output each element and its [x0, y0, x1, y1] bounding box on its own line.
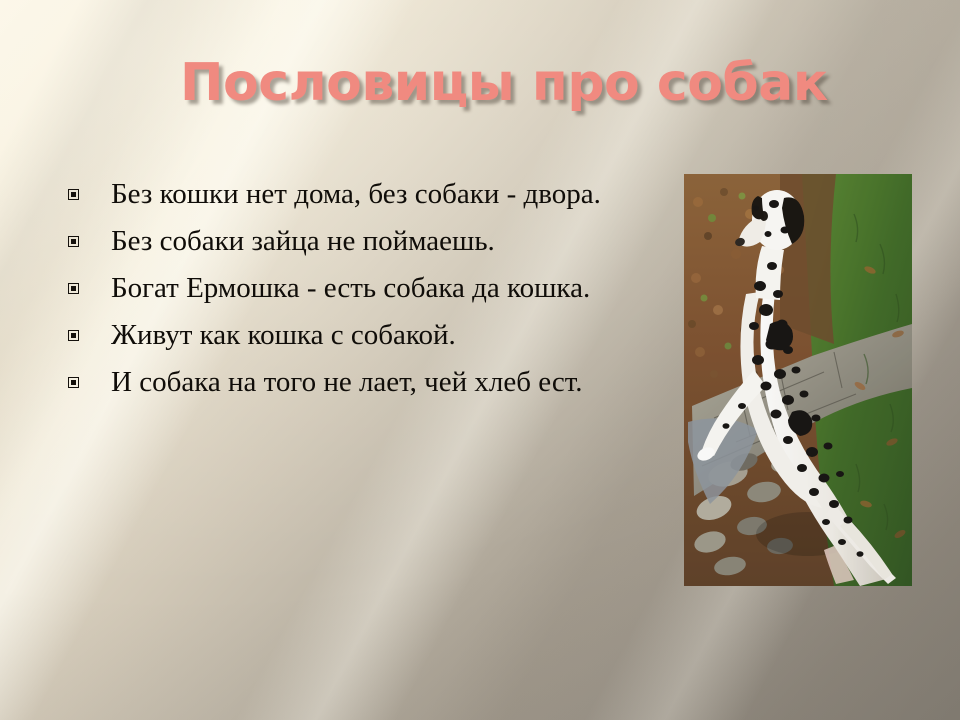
list-item-label: И собака на того не лает, чей хлеб ест. — [111, 364, 582, 401]
list-item-label: Без собаки зайца не поймаешь. — [111, 223, 495, 260]
list-item-label: Без кошки нет дома, без собаки - двора. — [111, 176, 601, 213]
presentation-slide: Пословицы про собак Без кошки нет дома, … — [0, 0, 960, 720]
list-item-label: Живут как кошка с собакой. — [111, 317, 456, 354]
square-bullet-icon — [68, 377, 79, 388]
square-bullet-icon — [68, 189, 79, 200]
list-item: Без кошки нет дома, без собаки - двора. — [68, 176, 668, 213]
list-item: Богат Ермошка - есть собака да кошка. — [68, 270, 668, 307]
proverbs-list: Без кошки нет дома, без собаки - двора. … — [68, 176, 668, 411]
slide-title: Пословицы про собак — [180, 50, 800, 116]
list-item: Без собаки зайца не поймаешь. — [68, 223, 668, 260]
square-bullet-icon — [68, 283, 79, 294]
square-bullet-icon — [68, 330, 79, 341]
list-item: И собака на того не лает, чей хлеб ест. — [68, 364, 668, 401]
dalmatian-dog-photo — [684, 174, 912, 586]
list-item: Живут как кошка с собакой. — [68, 317, 668, 354]
list-item-label: Богат Ермошка - есть собака да кошка. — [111, 270, 590, 307]
square-bullet-icon — [68, 236, 79, 247]
